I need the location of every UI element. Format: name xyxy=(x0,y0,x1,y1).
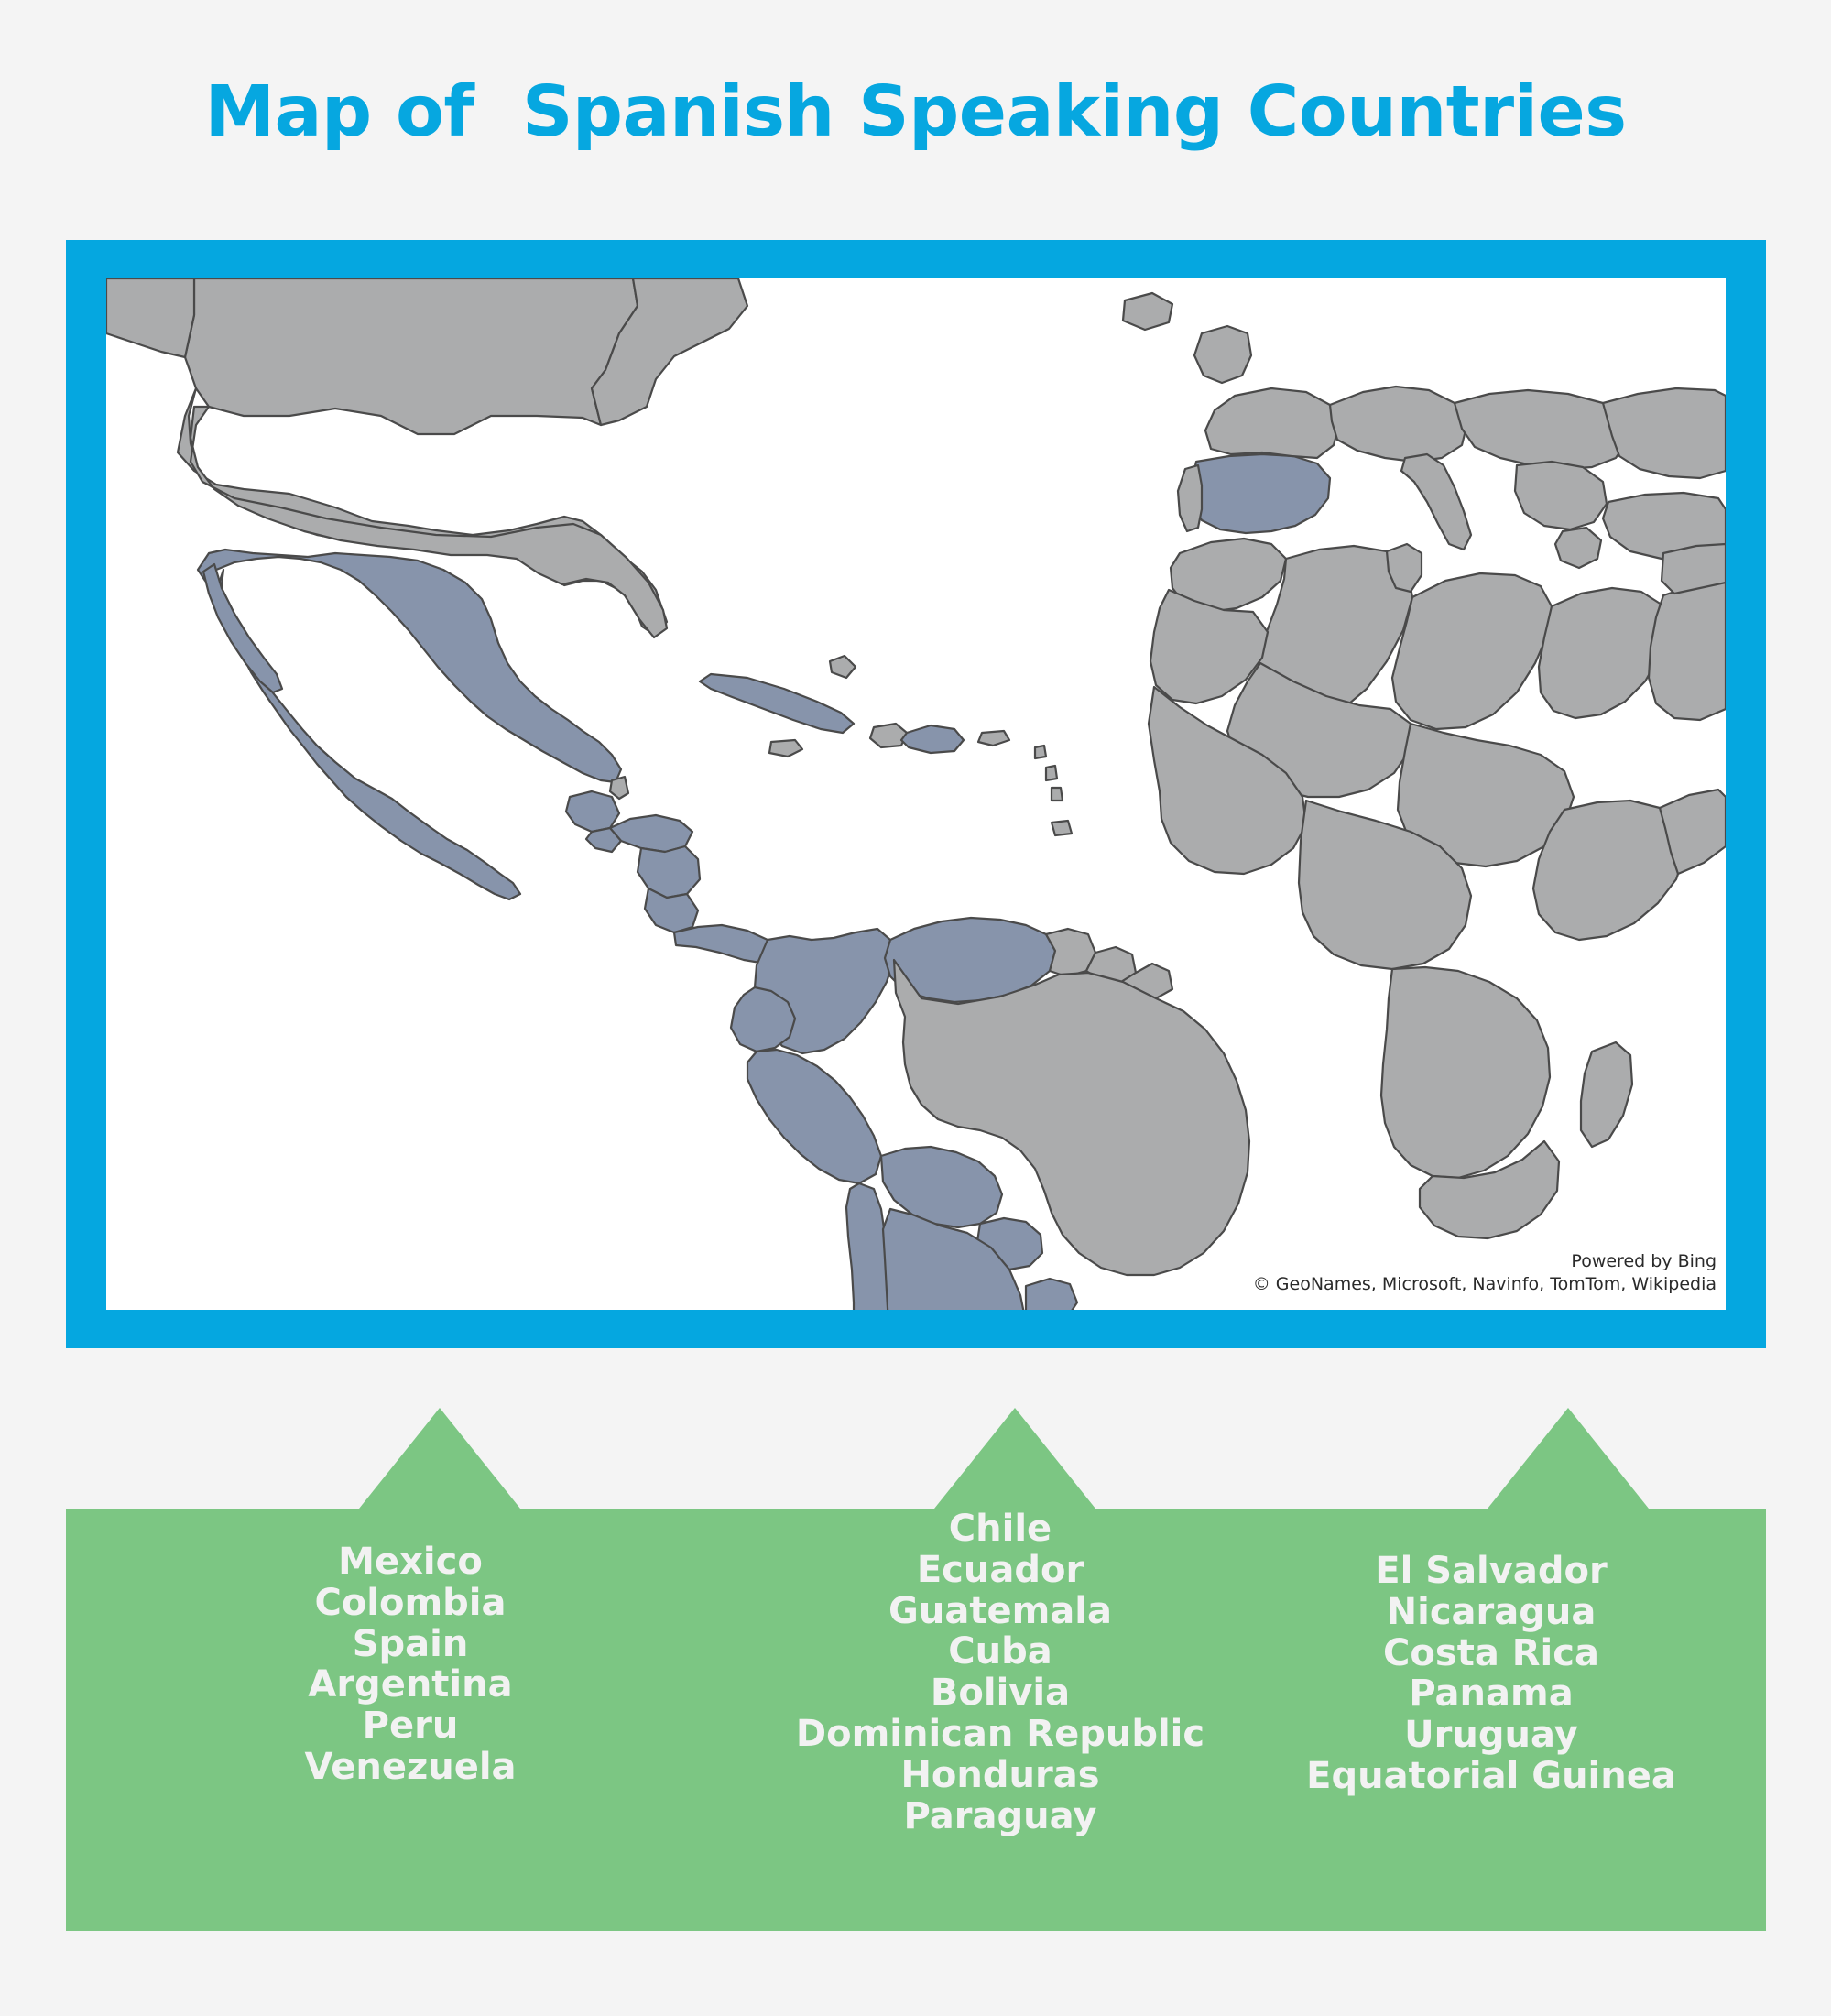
country-peru xyxy=(747,1050,881,1183)
country-name: Peru xyxy=(227,1705,594,1747)
country-name: Mexico xyxy=(227,1542,594,1583)
country-eastern-europe xyxy=(1603,388,1726,478)
country-column-1: MexicoColombiaSpainArgentinaPeruVenezuel… xyxy=(227,1509,594,1788)
country-jamaica xyxy=(769,740,802,757)
country-western-europe xyxy=(1330,387,1467,462)
world-map-svg[interactable] xyxy=(106,278,1726,1310)
country-portugal xyxy=(1178,465,1202,531)
panel-peak-1 xyxy=(359,1408,520,1509)
panel-peak-3 xyxy=(1488,1408,1649,1509)
map-card: Powered by Bing © GeoNames, Microsoft, N… xyxy=(66,240,1766,1348)
island-trinidad xyxy=(1052,821,1072,835)
country-greece xyxy=(1555,528,1601,568)
country-spain xyxy=(1191,454,1330,533)
country-name: Cuba xyxy=(762,1631,1238,1673)
island-iceland xyxy=(1123,293,1172,330)
country-haiti xyxy=(870,724,907,747)
country-nicaragua xyxy=(638,846,700,898)
country-name: Dominican Republic xyxy=(762,1714,1238,1755)
country-alaska xyxy=(106,278,194,357)
country-libya xyxy=(1392,573,1552,729)
attribution-sources: © GeoNames, Microsoft, Navinfo, TomTom, … xyxy=(1253,1273,1717,1297)
island-lesser-antilles-3 xyxy=(1052,788,1063,801)
country-guatemala xyxy=(566,791,619,832)
country-column-2: ChileEcuadorGuatemalaCubaBoliviaDominica… xyxy=(762,1509,1238,1836)
country-balkans xyxy=(1515,462,1607,529)
panel-peak-2 xyxy=(934,1408,1095,1509)
country-name: Chile xyxy=(762,1509,1238,1550)
country-uk-ireland xyxy=(1194,326,1251,383)
island-lesser-antilles-1 xyxy=(1035,746,1046,758)
country-bahamas xyxy=(830,656,856,678)
infographic-page: Map of Spanish Speaking Countries xyxy=(0,0,1831,2016)
country-egypt xyxy=(1539,588,1667,718)
country-name: Costa Rica xyxy=(1271,1633,1711,1674)
country-cuba xyxy=(700,674,854,733)
country-name: Bolivia xyxy=(762,1673,1238,1714)
country-france xyxy=(1205,388,1339,458)
country-southern-africa-1 xyxy=(1381,967,1550,1178)
country-belize xyxy=(610,777,628,799)
country-name: El Salvador xyxy=(1271,1551,1711,1592)
country-uruguay xyxy=(1026,1279,1077,1310)
map-attribution: Powered by Bing © GeoNames, Microsoft, N… xyxy=(1253,1250,1717,1297)
country-italy xyxy=(1401,454,1471,550)
country-name: Nicaragua xyxy=(1271,1592,1711,1633)
country-mexico-baja xyxy=(203,564,282,692)
country-column-3: El SalvadorNicaraguaCosta RicaPanamaUrug… xyxy=(1271,1509,1711,1797)
country-name: Honduras xyxy=(762,1755,1238,1796)
country-name: Uruguay xyxy=(1271,1715,1711,1756)
country-name: Ecuador xyxy=(762,1550,1238,1591)
country-name: Panama xyxy=(1271,1673,1711,1715)
country-dominican-republic xyxy=(901,725,964,753)
country-name: Guatemala xyxy=(762,1591,1238,1632)
country-name: Colombia xyxy=(227,1583,594,1624)
country-puerto-rico xyxy=(978,731,1009,746)
country-name: Paraguay xyxy=(762,1796,1238,1837)
country-honduras xyxy=(610,815,692,852)
island-madagascar xyxy=(1581,1042,1632,1147)
country-canada xyxy=(185,278,638,434)
page-title: Map of Spanish Speaking Countries xyxy=(0,77,1831,147)
country-name: Spain xyxy=(227,1624,594,1665)
country-name: Equatorial Guinea xyxy=(1271,1756,1711,1797)
map-canvas[interactable]: Powered by Bing © GeoNames, Microsoft, N… xyxy=(106,278,1726,1310)
country-list-panel: MexicoColombiaSpainArgentinaPeruVenezuel… xyxy=(66,1509,1766,1931)
country-name: Argentina xyxy=(227,1664,594,1705)
country-arabia xyxy=(1649,581,1726,720)
country-name: Venezuela xyxy=(227,1747,594,1788)
island-lesser-antilles-2 xyxy=(1046,766,1057,780)
attribution-powered-by: Powered by Bing xyxy=(1253,1250,1717,1274)
country-central-europe xyxy=(1455,390,1629,469)
